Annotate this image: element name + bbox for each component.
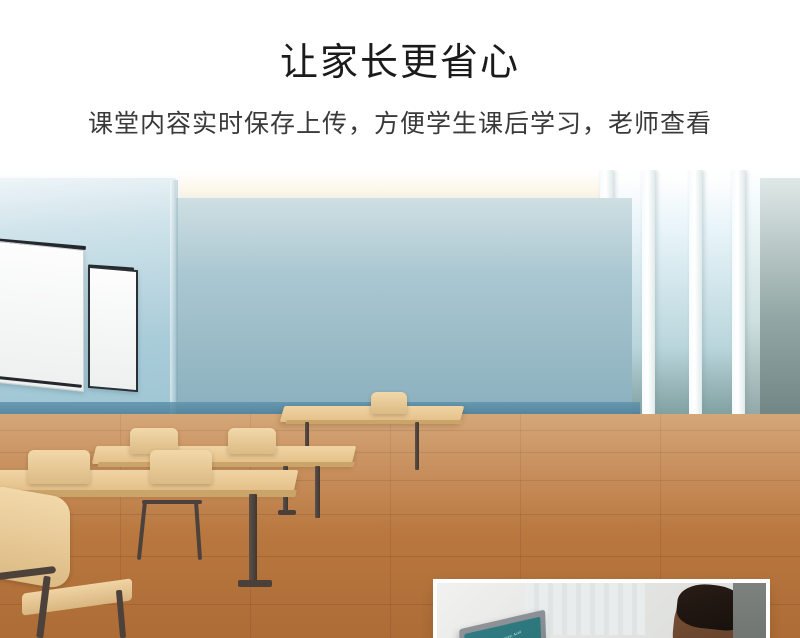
header-section: 让家长更省心 课堂内容实时保存上传，方便学生课后学习，老师查看 (0, 0, 800, 170)
student-chair (228, 428, 276, 454)
right-wall (760, 178, 800, 428)
classroom-scene: 2 m + n b a 14:47 2 m + n (0, 170, 800, 638)
projection-screen-left (0, 240, 84, 392)
student-chair (150, 450, 212, 484)
inset-background-right (733, 583, 766, 638)
window-glass (655, 176, 689, 420)
student-laptop-inset: HNO3 = Nitric Acid H2CO3 = Carbonic Acid… (437, 583, 766, 638)
page-subtitle: 课堂内容实时保存上传，方便学生课后学习，老师查看 (0, 108, 800, 142)
student-chair (28, 450, 90, 484)
window-mullion (689, 170, 702, 420)
window-mullion (642, 170, 655, 420)
product-feature-page: 让家长更省心 课堂内容实时保存上传，方便学生课后学习，老师查看 (0, 0, 800, 638)
projection-screen-right (88, 266, 138, 392)
page-title: 让家长更省心 (0, 40, 800, 86)
window-mullion (732, 170, 745, 420)
window-glass (702, 176, 732, 420)
teacher-chair (371, 392, 407, 414)
